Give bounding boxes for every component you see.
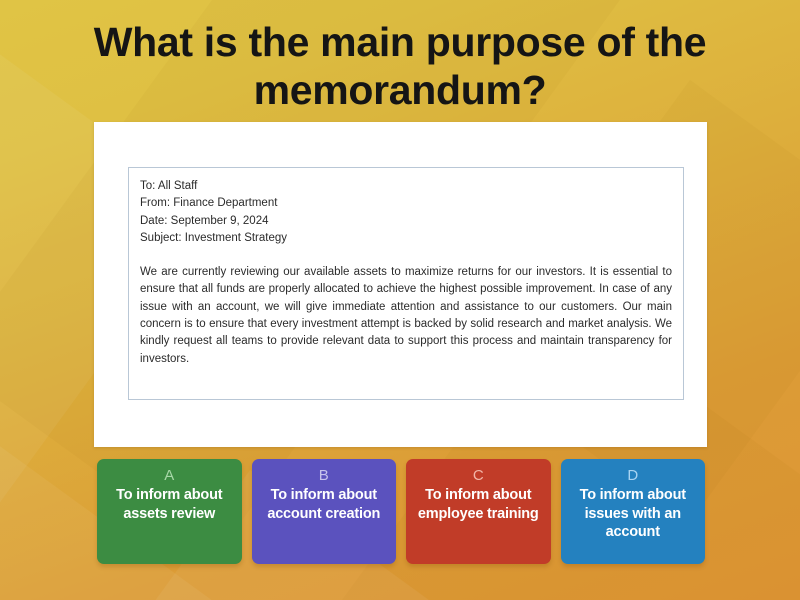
answer-text-d: To inform about issues with an account [567, 486, 700, 542]
answer-text-c: To inform about employee training [412, 486, 545, 523]
answer-option-d[interactable]: D To inform about issues with an account [561, 459, 706, 564]
memo-body-text: We are currently reviewing our available… [140, 264, 672, 368]
answer-options: A To inform about assets review B To inf… [97, 459, 705, 564]
memo-header-line-to: To: All Staff [140, 178, 672, 195]
answer-option-b[interactable]: B To inform about account creation [252, 459, 397, 564]
answer-letter-d: D [627, 466, 638, 485]
answer-option-a[interactable]: A To inform about assets review [97, 459, 242, 564]
memorandum-box: To: All Staff From: Finance Department D… [128, 167, 684, 400]
answer-letter-c: C [473, 466, 484, 485]
quiz-slide: What is the main purpose of the memorand… [0, 0, 800, 600]
memo-header-line-subject: Subject: Investment Strategy [140, 230, 672, 247]
answer-option-c[interactable]: C To inform about employee training [406, 459, 551, 564]
memo-header-line-from: From: Finance Department [140, 195, 672, 212]
question-title: What is the main purpose of the memorand… [0, 18, 800, 115]
document-card: To: All Staff From: Finance Department D… [94, 122, 707, 447]
answer-letter-b: B [319, 466, 329, 485]
answer-letter-a: A [164, 466, 174, 485]
answer-text-a: To inform about assets review [103, 486, 236, 523]
memo-header-line-date: Date: September 9, 2024 [140, 213, 672, 230]
answer-text-b: To inform about account creation [258, 486, 391, 523]
